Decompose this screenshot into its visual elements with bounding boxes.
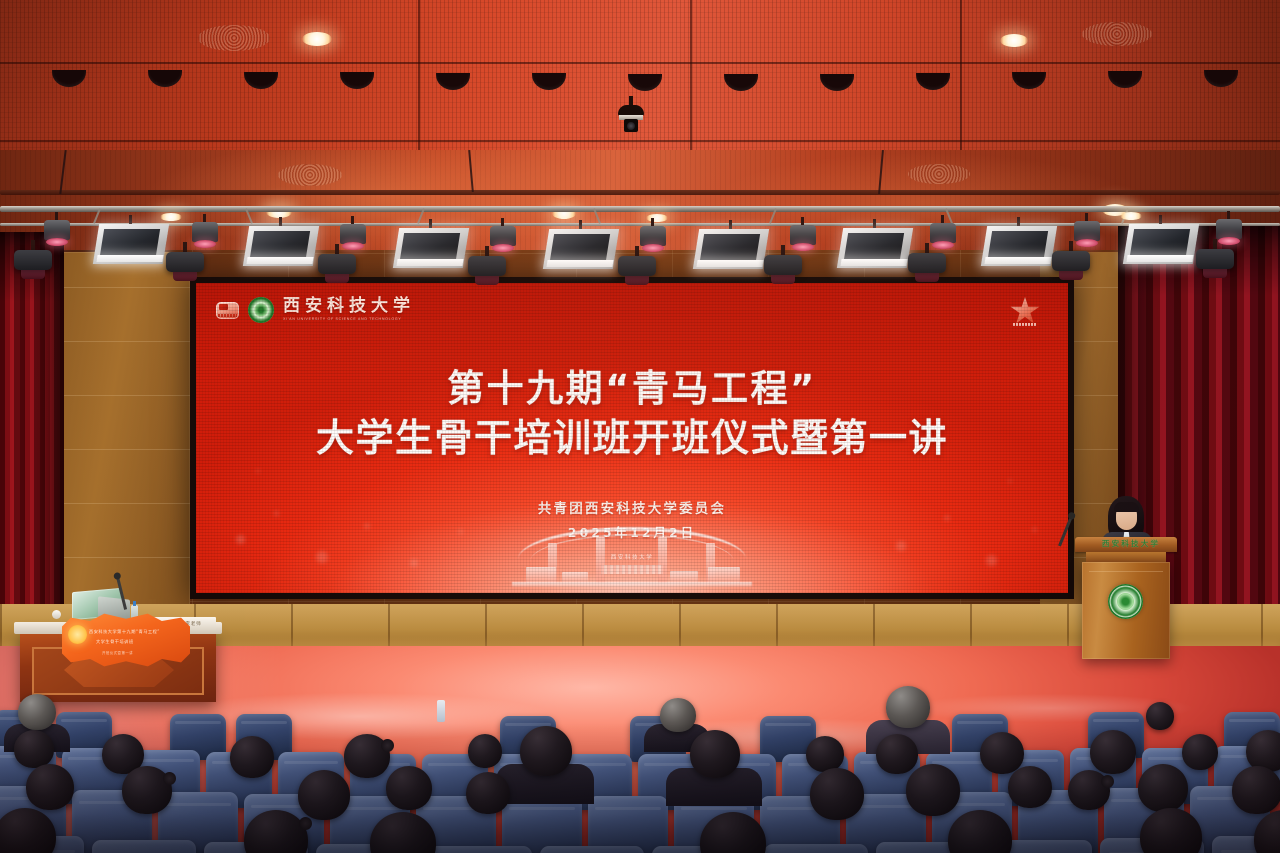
recessed-downlight-icon bbox=[1000, 34, 1028, 47]
seat[interactable] bbox=[92, 840, 196, 853]
attendee-head bbox=[468, 734, 502, 768]
seat[interactable] bbox=[502, 796, 582, 853]
attendee-head bbox=[1068, 770, 1110, 810]
ceiling-seam bbox=[690, 0, 692, 158]
placard-sun-icon bbox=[68, 625, 87, 644]
attendee-head bbox=[26, 764, 74, 810]
placard-line1: 西安科技大学第十九期“青马工程” bbox=[89, 629, 160, 635]
led-screen-frame: 西安科技大学 XI'AN UNIVERSITY OF SCIENCE AND T… bbox=[190, 277, 1074, 599]
seat[interactable] bbox=[428, 846, 532, 853]
seat[interactable] bbox=[540, 846, 644, 853]
attendee-head bbox=[810, 768, 864, 820]
attendee-head bbox=[18, 694, 56, 730]
podium: 西安科技大学 bbox=[1080, 537, 1172, 659]
university-seal-icon bbox=[248, 297, 274, 323]
moving-head-light-icon bbox=[1052, 241, 1090, 281]
attendee-head bbox=[1008, 766, 1052, 808]
attendee-head bbox=[876, 734, 918, 774]
screen-logo-row: 西安科技大学 XI'AN UNIVERSITY OF SCIENCE AND T… bbox=[216, 297, 415, 323]
led-wash-panel-icon bbox=[984, 226, 1054, 272]
led-wash-panel-icon bbox=[546, 229, 616, 275]
led-wash-panel-icon bbox=[840, 228, 910, 274]
moving-head-light-icon bbox=[14, 240, 52, 280]
screen-organization: 共青团西安科技大学委员会 bbox=[196, 497, 1068, 517]
ceiling-speaker-grille-icon bbox=[198, 25, 270, 51]
moving-head-light-icon bbox=[908, 243, 946, 283]
attendee-head bbox=[298, 770, 350, 820]
auditorium-photo: 西安科技大学 XI'AN UNIVERSITY OF SCIENCE AND T… bbox=[0, 0, 1280, 853]
wordmark-en: XI'AN UNIVERSITY OF SCIENCE AND TECHNOLO… bbox=[283, 318, 415, 322]
attendee-head bbox=[1182, 734, 1218, 770]
attendee-head bbox=[1090, 730, 1136, 774]
podium-university-emblem-icon bbox=[1108, 584, 1143, 619]
attendee-head bbox=[906, 764, 960, 816]
attendee-head bbox=[806, 736, 844, 772]
attendee-head bbox=[230, 736, 274, 778]
moving-head-light-icon bbox=[618, 246, 656, 286]
led-wash-panel-icon bbox=[96, 224, 166, 270]
ceiling-camera-icon bbox=[618, 96, 644, 136]
screen-title-line1: 第十九期“青马工程” bbox=[196, 367, 1068, 411]
attendee-head bbox=[466, 772, 510, 814]
seat[interactable] bbox=[588, 796, 668, 853]
attendee-head bbox=[660, 698, 696, 732]
screen-title-block: 第十九期“青马工程” 大学生骨干培训班开班仪式暨第一讲 bbox=[196, 367, 1068, 461]
ceiling-seam bbox=[0, 62, 1280, 64]
attendee-head bbox=[520, 726, 572, 776]
gate-sign-text: 西安科技大学 bbox=[611, 553, 654, 561]
wordmark-cn: 西安科技大学 bbox=[283, 298, 415, 315]
truss-strip-light-icon bbox=[160, 213, 182, 221]
attendee-head bbox=[980, 732, 1024, 774]
attendee-head bbox=[1146, 702, 1174, 730]
placard-line3: 开班仪式暨第一讲 bbox=[102, 650, 133, 655]
hanging-cable bbox=[878, 150, 884, 194]
youth-league-star-icon bbox=[1010, 297, 1040, 327]
moving-head-light-icon bbox=[166, 242, 204, 282]
truss-pipe bbox=[0, 190, 1280, 195]
wall-panel-column-left bbox=[60, 252, 190, 612]
campus-gate-illustration: 西安科技大学 bbox=[512, 525, 752, 587]
led-screen-content: 西安科技大学 XI'AN UNIVERSITY OF SCIENCE AND T… bbox=[196, 283, 1068, 593]
podium-front-text: 西安科技大学 bbox=[1080, 538, 1182, 549]
moving-head-light-icon bbox=[318, 244, 356, 284]
recessed-downlight-icon bbox=[302, 32, 332, 46]
led-wash-panel-icon bbox=[696, 229, 766, 275]
led-wash-panel-icon bbox=[396, 228, 466, 274]
ceiling-seam bbox=[0, 140, 1280, 142]
attendee-head bbox=[344, 734, 390, 778]
party-emblem-badge-icon bbox=[216, 302, 239, 319]
moving-head-light-icon bbox=[468, 246, 506, 286]
moving-head-light-icon bbox=[1196, 239, 1234, 279]
hanging-cable bbox=[468, 150, 474, 192]
stage-curtain-left bbox=[0, 232, 64, 662]
ceiling-seam bbox=[960, 0, 962, 158]
truss-strip-light-icon bbox=[1120, 212, 1142, 220]
truss-main-bar bbox=[0, 206, 1280, 212]
led-wash-panel-icon bbox=[246, 226, 316, 272]
attendee-head bbox=[886, 686, 930, 728]
hanging-cable bbox=[59, 150, 66, 194]
screen-title-line2: 大学生骨干培训班开班仪式暨第一讲 bbox=[196, 416, 1068, 462]
university-wordmark: 西安科技大学 XI'AN UNIVERSITY OF SCIENCE AND T… bbox=[283, 298, 415, 321]
attendee-head bbox=[386, 766, 432, 810]
moving-head-light-icon bbox=[764, 245, 802, 285]
placard-line2: 大学生骨干培训班 bbox=[96, 639, 134, 645]
attendee-head bbox=[1232, 766, 1280, 814]
audience-seating bbox=[0, 690, 1280, 853]
teacup-icon bbox=[52, 610, 61, 619]
attendee-head bbox=[690, 730, 740, 778]
seat[interactable] bbox=[764, 844, 868, 853]
head-table-placard: 西安科技大学第十九期“青马工程” 大学生骨干培训班 开班仪式暨第一讲 bbox=[62, 612, 190, 668]
attendee-head bbox=[14, 730, 54, 768]
ceiling-speaker-grille-icon bbox=[1082, 22, 1152, 46]
attendee-head bbox=[1138, 764, 1188, 812]
attendee-head bbox=[122, 766, 172, 814]
ceiling-seam bbox=[418, 0, 420, 158]
led-wash-panel-icon bbox=[1126, 224, 1196, 270]
